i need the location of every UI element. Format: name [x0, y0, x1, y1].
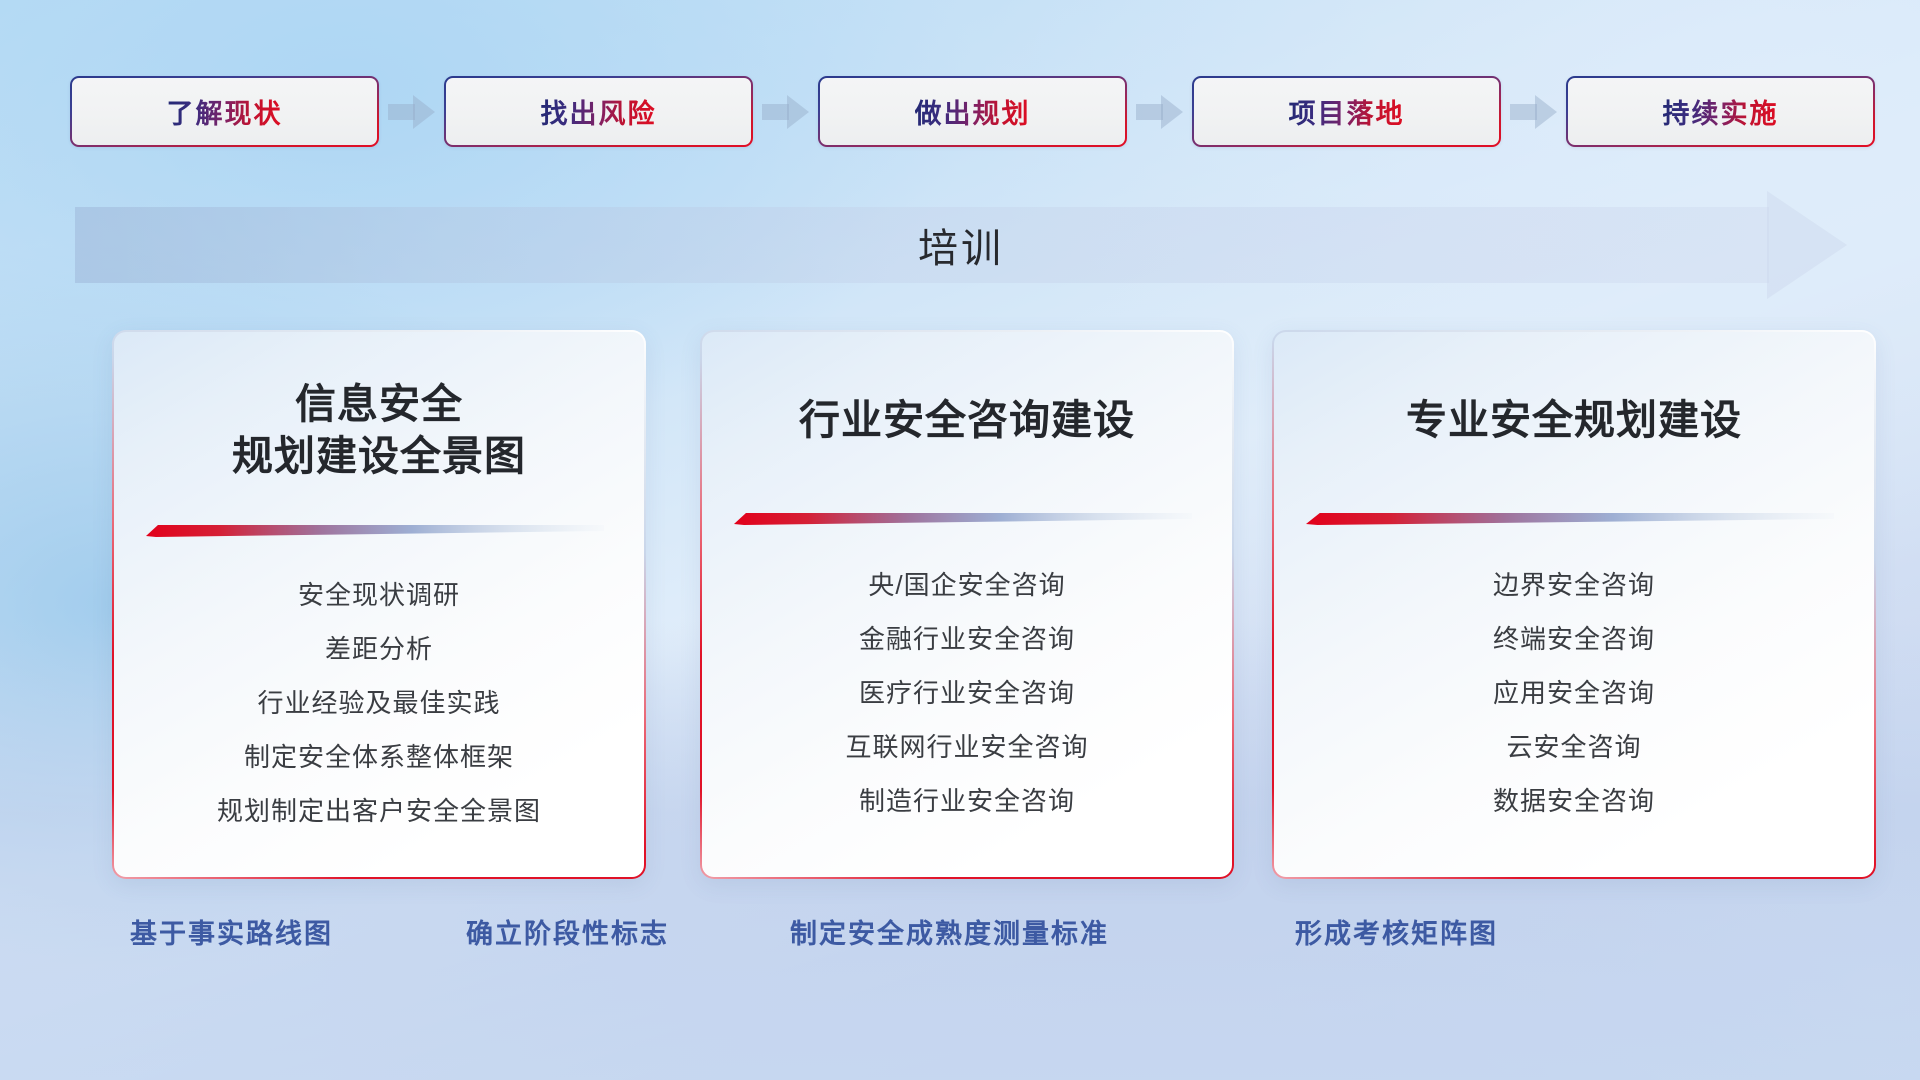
card-title: 信息安全 规划建设全景图 [114, 378, 644, 483]
card-item-list: 央/国企安全咨询 金融行业安全咨询 医疗行业安全咨询 互联网行业安全咨询 制造行… [702, 572, 1232, 842]
list-item: 制造行业安全咨询 [702, 788, 1232, 814]
caption-4: 形成考核矩阵图 [1295, 912, 1498, 951]
list-item: 互联网行业安全咨询 [702, 734, 1232, 760]
caption-1: 基于事实路线图 [130, 912, 333, 951]
card-divider [1306, 510, 1834, 526]
arrow-head [1535, 95, 1557, 129]
training-banner: 培训 [75, 207, 1847, 283]
flow-step-1-label: 了解现状 [167, 92, 283, 131]
card-item-list: 安全现状调研 差距分析 行业经验及最佳实践 制定安全体系整体框架 规划制定出客户… [114, 582, 644, 852]
list-item: 金融行业安全咨询 [702, 626, 1232, 652]
card-divider [734, 510, 1192, 526]
card-title: 专业安全规划建设 [1274, 394, 1874, 446]
divider-shape [734, 510, 1192, 526]
cards-row: 信息安全 规划建设全景图 [0, 330, 1920, 890]
flow-step-2-label: 找出风险 [541, 92, 657, 131]
list-item: 边界安全咨询 [1274, 572, 1874, 598]
card-professional-security-planning[interactable]: 专业安全规划建设 [1272, 330, 1876, 879]
banner-title: 培训 [75, 207, 1847, 283]
list-item: 应用安全咨询 [1274, 680, 1874, 706]
arrow-head [1161, 95, 1183, 129]
arrow-right-icon [762, 95, 809, 129]
process-flow-row: 了解现状 找出风险 做出规划 项目落地 持续实施 [70, 78, 1855, 145]
arrow-right-icon [1510, 95, 1557, 129]
arrow-shaft [388, 104, 415, 120]
arrow-shaft [1510, 104, 1537, 120]
list-item: 云安全咨询 [1274, 734, 1874, 760]
caption-3: 制定安全成熟度测量标准 [790, 912, 1109, 951]
arrow-right-icon [1136, 95, 1183, 129]
list-item: 数据安全咨询 [1274, 788, 1874, 814]
list-item: 医疗行业安全咨询 [702, 680, 1232, 706]
arrow-shaft [1136, 104, 1163, 120]
list-item: 安全现状调研 [114, 582, 644, 608]
card-item-list: 边界安全咨询 终端安全咨询 应用安全咨询 云安全咨询 数据安全咨询 [1274, 572, 1874, 842]
arrow-right-icon [388, 95, 435, 129]
list-item: 终端安全咨询 [1274, 626, 1874, 652]
arrow-shaft [762, 104, 789, 120]
arrow-head [413, 95, 435, 129]
list-item: 差距分析 [114, 636, 644, 662]
flow-step-3[interactable]: 做出规划 [818, 76, 1127, 147]
flow-step-5[interactable]: 持续实施 [1566, 76, 1875, 147]
list-item: 规划制定出客户安全全景图 [114, 798, 644, 824]
card-information-security-blueprint[interactable]: 信息安全 规划建设全景图 [112, 330, 646, 879]
flow-step-5-label: 持续实施 [1663, 92, 1779, 131]
slide-stage: 了解现状 找出风险 做出规划 项目落地 持续实施 [0, 0, 1920, 1080]
flow-step-1[interactable]: 了解现状 [70, 76, 379, 147]
arrow-head [787, 95, 809, 129]
flow-step-4[interactable]: 项目落地 [1192, 76, 1501, 147]
flow-step-4-label: 项目落地 [1289, 92, 1405, 131]
footer-captions: 基于事实路线图 确立阶段性标志 制定安全成熟度测量标准 形成考核矩阵图 [0, 912, 1920, 958]
flow-step-2[interactable]: 找出风险 [444, 76, 753, 147]
list-item: 制定安全体系整体框架 [114, 744, 644, 770]
card-industry-security-consulting[interactable]: 行业安全咨询建设 [700, 330, 1234, 879]
card-divider [146, 522, 604, 538]
caption-2: 确立阶段性标志 [466, 912, 669, 951]
card-title: 行业安全咨询建设 [702, 394, 1232, 446]
divider-shape [146, 522, 604, 538]
list-item: 行业经验及最佳实践 [114, 690, 644, 716]
flow-step-3-label: 做出规划 [915, 92, 1031, 131]
list-item: 央/国企安全咨询 [702, 572, 1232, 598]
divider-shape [1306, 510, 1834, 526]
